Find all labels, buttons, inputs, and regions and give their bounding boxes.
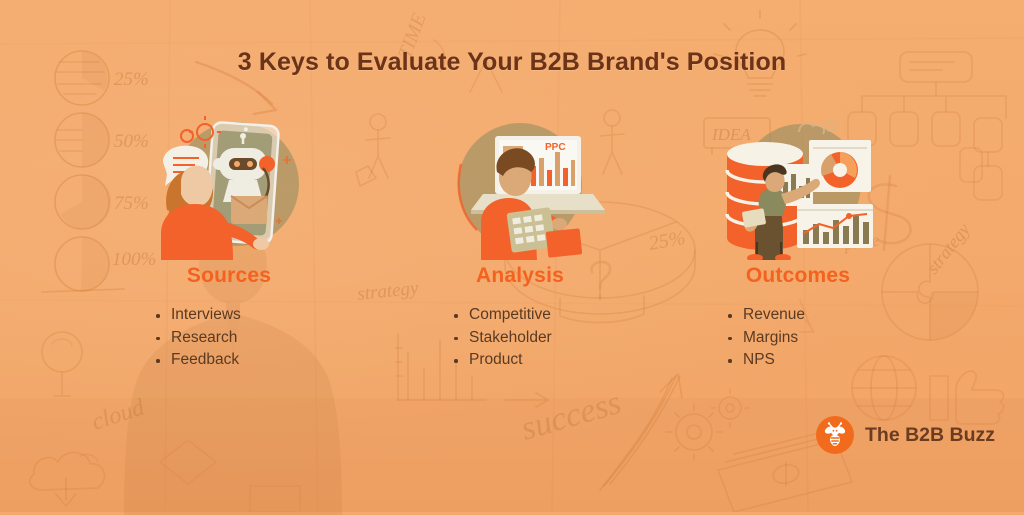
column-heading-outcomes: Outcomes [648, 264, 948, 288]
logo-text: The B2B Buzz [865, 424, 995, 447]
chart-label-ppc: PPC [545, 142, 566, 153]
bullet-list-outcomes: Revenue Margins NPS [726, 304, 896, 372]
bee-icon [816, 416, 854, 454]
column-outcomes: Outcomes Revenue Margins NPS [648, 110, 948, 372]
column-sources: Sources Interviews Research Feedback [82, 110, 382, 372]
list-item: Margins [726, 327, 896, 350]
column-analysis: PPC [370, 110, 670, 372]
list-item: Product [452, 349, 622, 372]
list-item: Revenue [726, 304, 896, 327]
person-laptop-charts-illustration: PPC [425, 110, 615, 260]
bullet-list-sources: Interviews Research Feedback [154, 304, 324, 372]
list-item: Interviews [154, 304, 324, 327]
list-item: Research [154, 327, 324, 350]
column-heading-sources: Sources [79, 264, 379, 288]
list-item: NPS [726, 349, 896, 372]
person-chatbot-phone-illustration [137, 110, 327, 260]
list-item: Feedback [154, 349, 324, 372]
infographic-canvas: 25% 50% 75% 100% [0, 0, 1024, 512]
column-heading-analysis: Analysis [370, 264, 670, 288]
list-item: Stakeholder [452, 327, 622, 350]
bullet-list-analysis: Competitive Stakeholder Product [452, 304, 622, 372]
person-dashboards-coins-illustration [703, 110, 893, 260]
brand-logo[interactable]: The B2B Buzz [816, 416, 995, 454]
list-item: Competitive [452, 304, 622, 327]
